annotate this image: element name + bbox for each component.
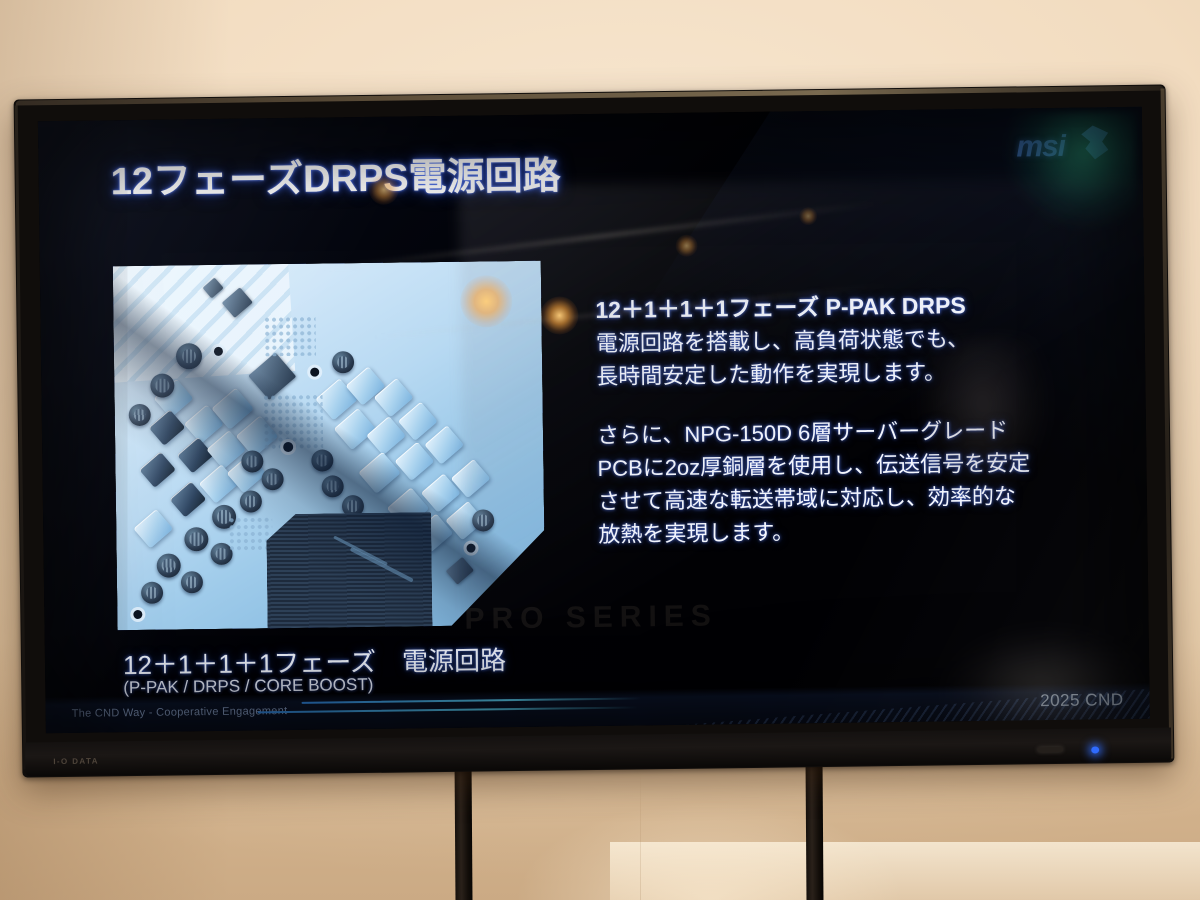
body-paragraph-1: 12＋1＋1＋1フェーズ P-PAK DRPS 電源回路を搭載し、高負荷状態でも… — [595, 287, 1096, 393]
slide-title: 12フェーズDRPS電源回路 — [110, 144, 561, 205]
footer-event-label: 2025 CND — [1040, 690, 1124, 711]
photo-frame — [113, 261, 546, 631]
presentation-slide: PRO SERIES msi 12フェーズDRPS電源回路 — [38, 107, 1150, 733]
msi-logo: msi — [1016, 125, 1113, 166]
tv-stand-pole-left — [455, 760, 473, 900]
tv-brand-label: I-O DATA — [53, 757, 99, 767]
body-line: 長時間安定した動作を実現します。 — [596, 353, 1096, 393]
footer-accent-line — [258, 706, 638, 713]
msi-dragon-icon — [1080, 125, 1108, 159]
tv-ir-sensor — [1037, 747, 1063, 752]
floor-light-glow — [480, 760, 940, 900]
footer-tagline: The CND Way - Cooperative Engagement — [72, 705, 288, 720]
tv-screen: PRO SERIES msi 12フェーズDRPS電源回路 — [38, 107, 1150, 733]
television: I-O DATA PRO SERIES msi 12フェーズDRPS電源回路 — [14, 84, 1175, 777]
footer-accent-line — [302, 697, 642, 703]
body-line: 放熱を実現します。 — [598, 511, 1098, 551]
tv-power-led — [1091, 746, 1099, 753]
pcb-shadow — [113, 261, 546, 631]
body-line: PCBに2oz厚銅層を使用し、伝送信号を安定 — [597, 445, 1097, 485]
body-paragraph-2: さらに、NPG-150D 6層サーバーグレード PCBに2oz厚銅層を使用し、伝… — [597, 412, 1099, 551]
msi-wordmark: msi — [1016, 130, 1065, 165]
motherboard-vrm-photo — [113, 261, 546, 631]
slide-body-text: 12＋1＋1＋1フェーズ P-PAK DRPS 電源回路を搭載し、高負荷状態でも… — [595, 287, 1099, 577]
tv-stand-pole-right — [806, 760, 824, 900]
